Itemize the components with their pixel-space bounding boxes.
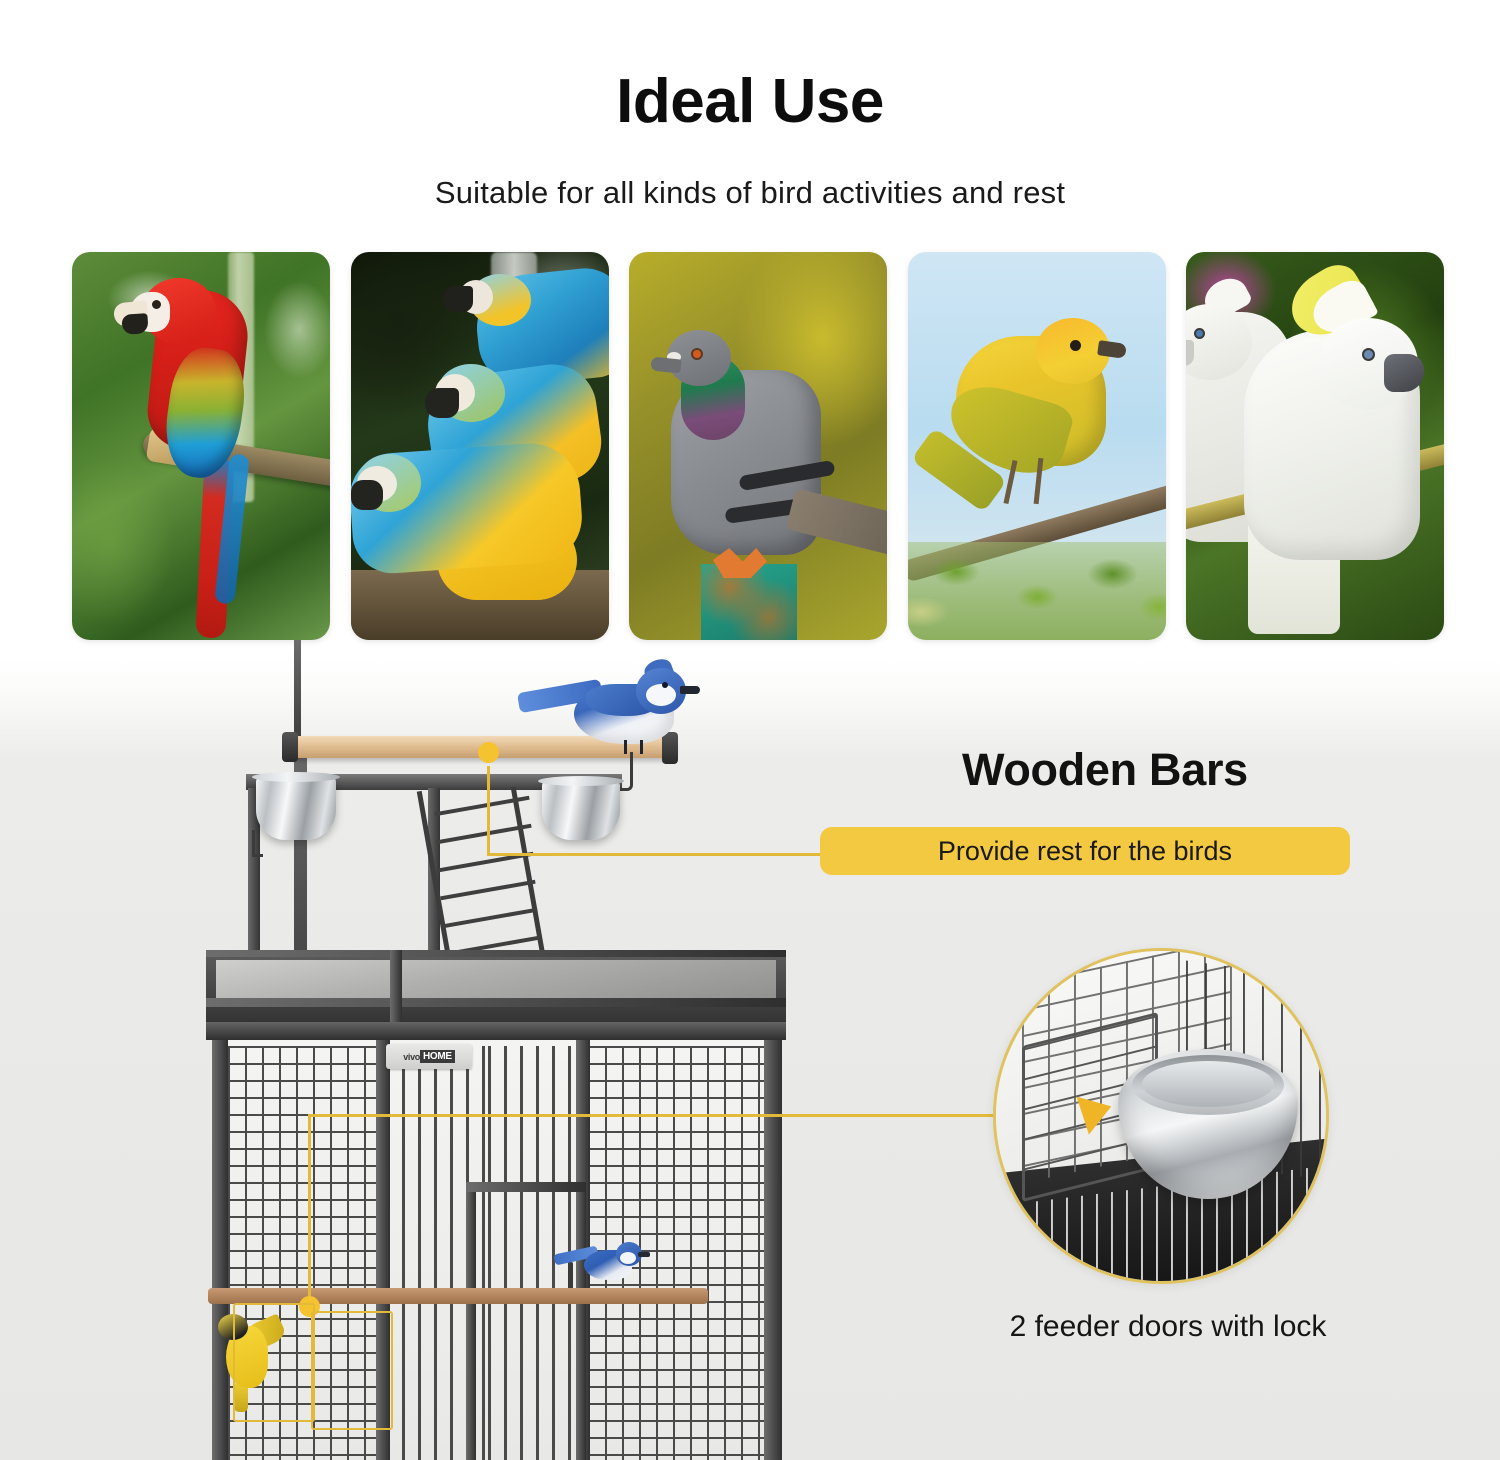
- cup-hook-right: [620, 752, 633, 791]
- cage-top-divider: [390, 950, 402, 1028]
- blue-jay-on-perch: [520, 658, 700, 754]
- wooden-bars-title: Wooden Bars: [962, 744, 1248, 796]
- feeder-door-highlight-1: [233, 1303, 315, 1422]
- cage-door-right-edge: [576, 1182, 586, 1460]
- cage-ladder: [428, 790, 578, 962]
- brand-logo-plate: vivoHOME: [386, 1044, 472, 1069]
- perch-leader-line-vertical: [487, 766, 490, 856]
- feeding-cup-right-rim: [538, 776, 624, 786]
- photo-saffron-finch: [908, 252, 1166, 640]
- cage-door-top-edge: [466, 1182, 586, 1192]
- perch-leader-line-horizontal: [487, 853, 822, 856]
- page-title: Ideal Use: [0, 66, 1500, 137]
- photo-scarlet-macaw: [72, 252, 330, 640]
- feeder-caption: 2 feeder doors with lock: [958, 1310, 1378, 1344]
- cage-top-rail: [206, 998, 786, 1007]
- feeder-door-highlight-2: [311, 1311, 393, 1430]
- interior-wooden-perch: [208, 1288, 708, 1304]
- brand-suffix: HOME: [420, 1050, 455, 1063]
- blue-jay-in-cage: [558, 1236, 650, 1286]
- wooden-bars-badge-label: Provide rest for the birds: [938, 836, 1232, 867]
- photo-cockatoos: [1186, 252, 1444, 640]
- brand-prefix: vivo: [403, 1052, 420, 1062]
- feeder-leader-line-vertical: [308, 1114, 311, 1309]
- page-subtitle: Suitable for all kinds of bird activitie…: [0, 175, 1500, 211]
- feeding-cup-left: [256, 776, 336, 840]
- cage-top-edge: [206, 950, 786, 957]
- wooden-bars-badge: Provide rest for the birds: [820, 827, 1350, 875]
- cage-post-right: [764, 1040, 782, 1460]
- feeder-leader-line-horizontal: [308, 1114, 1008, 1117]
- perch-callout-dot: [478, 742, 499, 763]
- cup-hook-left: [252, 830, 263, 857]
- bird-photo-gallery: [72, 252, 1444, 640]
- feeder-door-detail-inset: [993, 948, 1329, 1284]
- feeding-cup-left-rim: [252, 772, 340, 782]
- photo-rock-pigeon: [629, 252, 887, 640]
- photo-blue-gold-macaws: [351, 252, 609, 640]
- cage-door-left-edge: [466, 1182, 476, 1460]
- cage-lip: [206, 1022, 786, 1040]
- perch-bracket-left: [282, 732, 298, 762]
- marketing-panel: Ideal Use Suitable for all kinds of bird…: [0, 0, 1500, 1460]
